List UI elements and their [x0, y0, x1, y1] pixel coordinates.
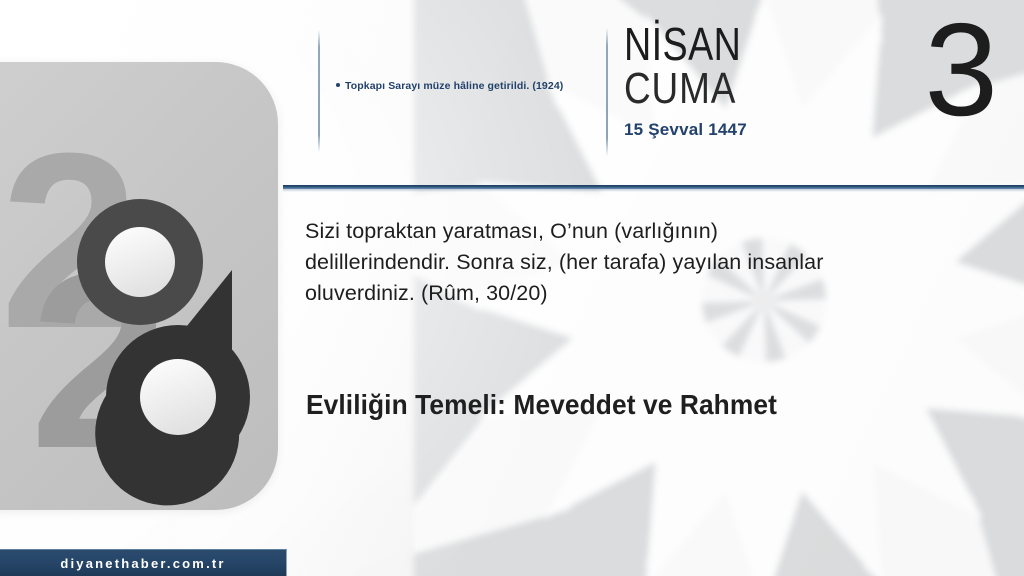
year-logo-2026: 2 2: [0, 62, 278, 510]
verse-line-3: oluverdiniz. (Rûm, 30/20): [305, 278, 930, 309]
topic-title: Evliliğin Temeli: Meveddet ve Rahmet: [306, 389, 908, 421]
history-note: Topkapı Sarayı müze hâline getirildi. (1…: [336, 80, 586, 93]
website-url: diyanethaber.com.tr: [60, 556, 225, 571]
hijri-date-label: 15 Şevval 1447: [624, 120, 914, 140]
verse-text: Sizi topraktan yaratması, O’nun (varlığı…: [305, 216, 930, 309]
verse-line-2: delillerindendir. Sonra siz, (her tarafa…: [305, 247, 930, 278]
calendar-page: 2 2 Topkapı Sarayı müze hâline getirildi…: [0, 0, 1024, 576]
website-footer-bar[interactable]: diyanethaber.com.tr: [0, 549, 287, 576]
header-divider-right: [606, 28, 608, 156]
header-divider-shadow: [283, 189, 1024, 192]
history-note-text: Topkapı Sarayı müze hâline getirildi. (1…: [345, 80, 563, 92]
date-block: NİSAN CUMA 15 Şevval 1447: [624, 22, 914, 140]
bullet-icon: [336, 83, 340, 87]
day-number: 3: [925, 4, 996, 136]
year-logo-panel: 2 2: [0, 62, 278, 510]
month-label: NİSAN: [624, 22, 862, 66]
weekday-label: CUMA: [624, 66, 868, 112]
verse-line-1: Sizi topraktan yaratması, O’nun (varlığı…: [305, 216, 930, 247]
header-divider-left: [318, 30, 320, 152]
